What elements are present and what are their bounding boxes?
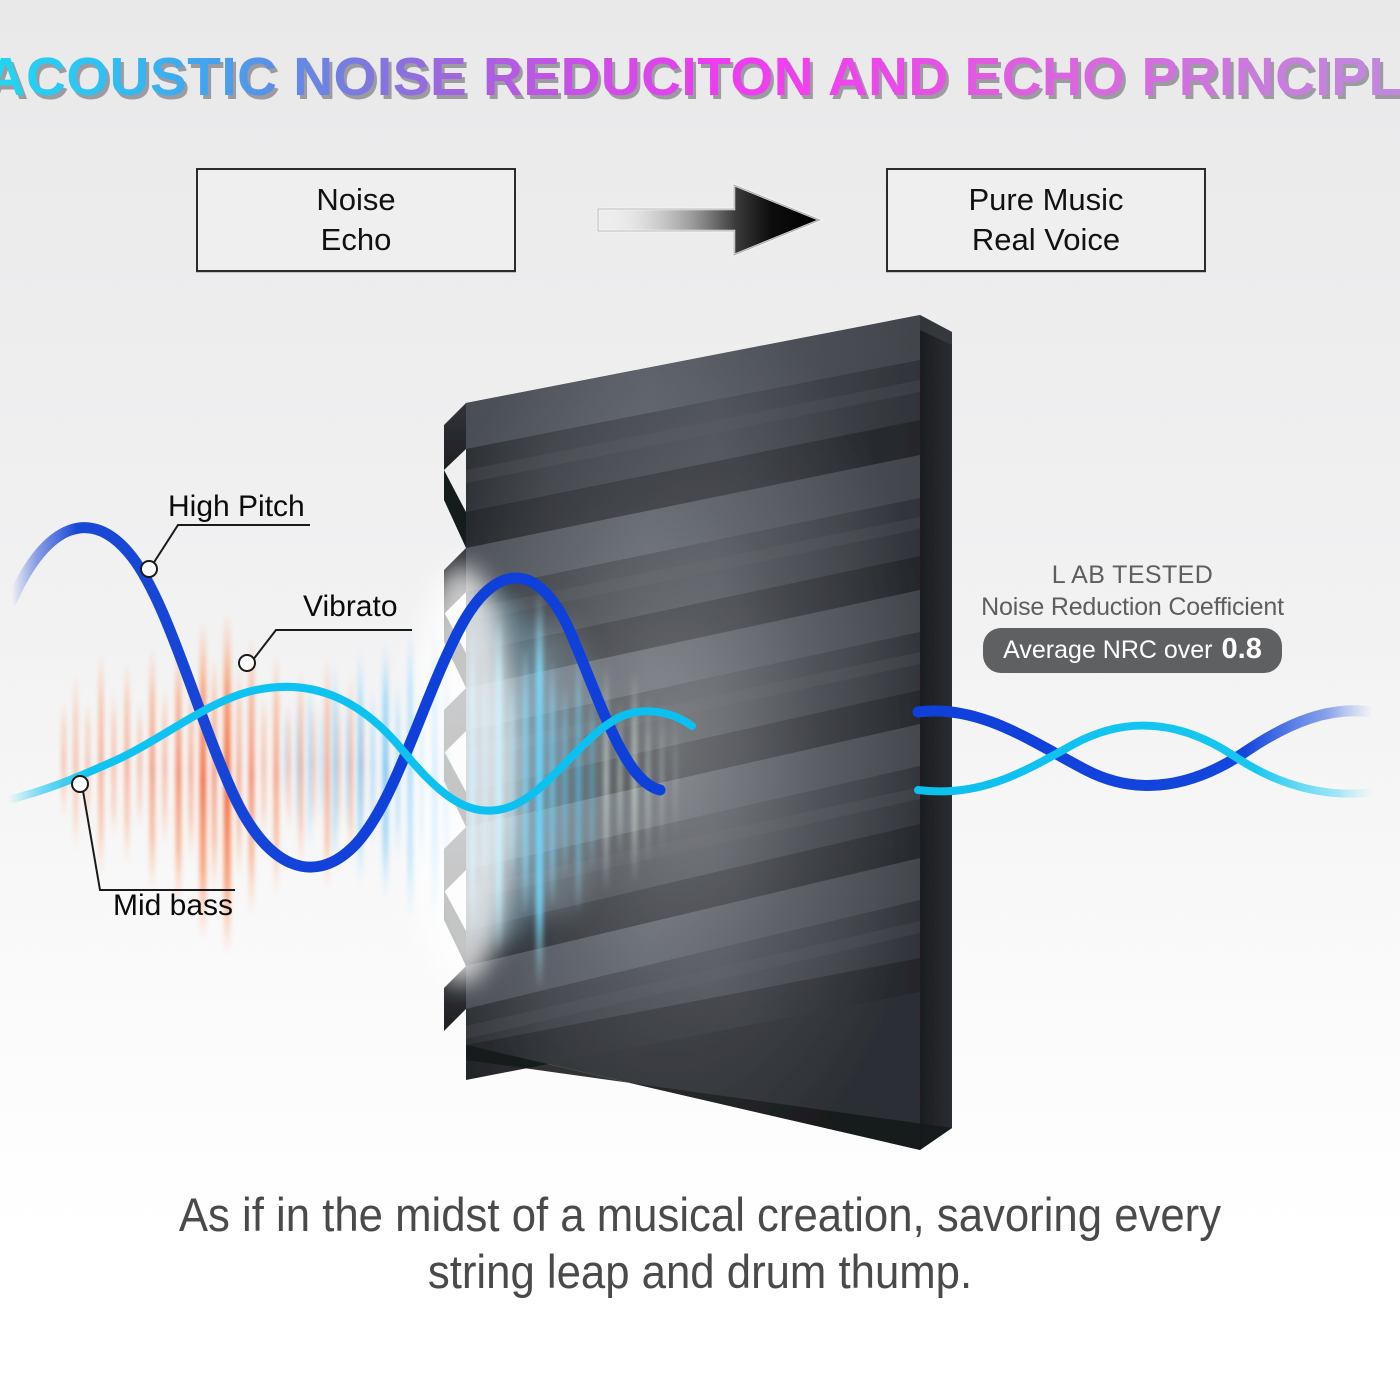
caption-line-1: As if in the midst of a musical creation… (114, 1186, 1286, 1243)
callout-label-vibrato: Vibrato (303, 590, 398, 624)
nrc-value-pill: Average NRC over 0.8 (983, 628, 1282, 673)
callout-label-mid-bass: Mid bass (113, 889, 233, 923)
outgoing-clean-waves (918, 711, 1374, 794)
nrc-pill-value: 0.8 (1222, 633, 1262, 666)
infographic-canvas: ACOUSTIC NOISE REDUCITON AND ECHO PRINCI… (0, 0, 1400, 1400)
nrc-coefficient-label: Noise Reduction Coefficient (960, 591, 1305, 624)
nrc-pill-label: Average NRC over (1003, 636, 1212, 665)
callout-label-high-pitch: High Pitch (168, 490, 305, 524)
bottom-caption: As if in the midst of a musical creation… (114, 1186, 1286, 1301)
nrc-badge: L AB TESTED Noise Reduction Coefficient … (960, 560, 1305, 673)
lab-tested-label: L AB TESTED (960, 560, 1305, 591)
caption-line-2: string leap and drum thump. (114, 1243, 1286, 1300)
